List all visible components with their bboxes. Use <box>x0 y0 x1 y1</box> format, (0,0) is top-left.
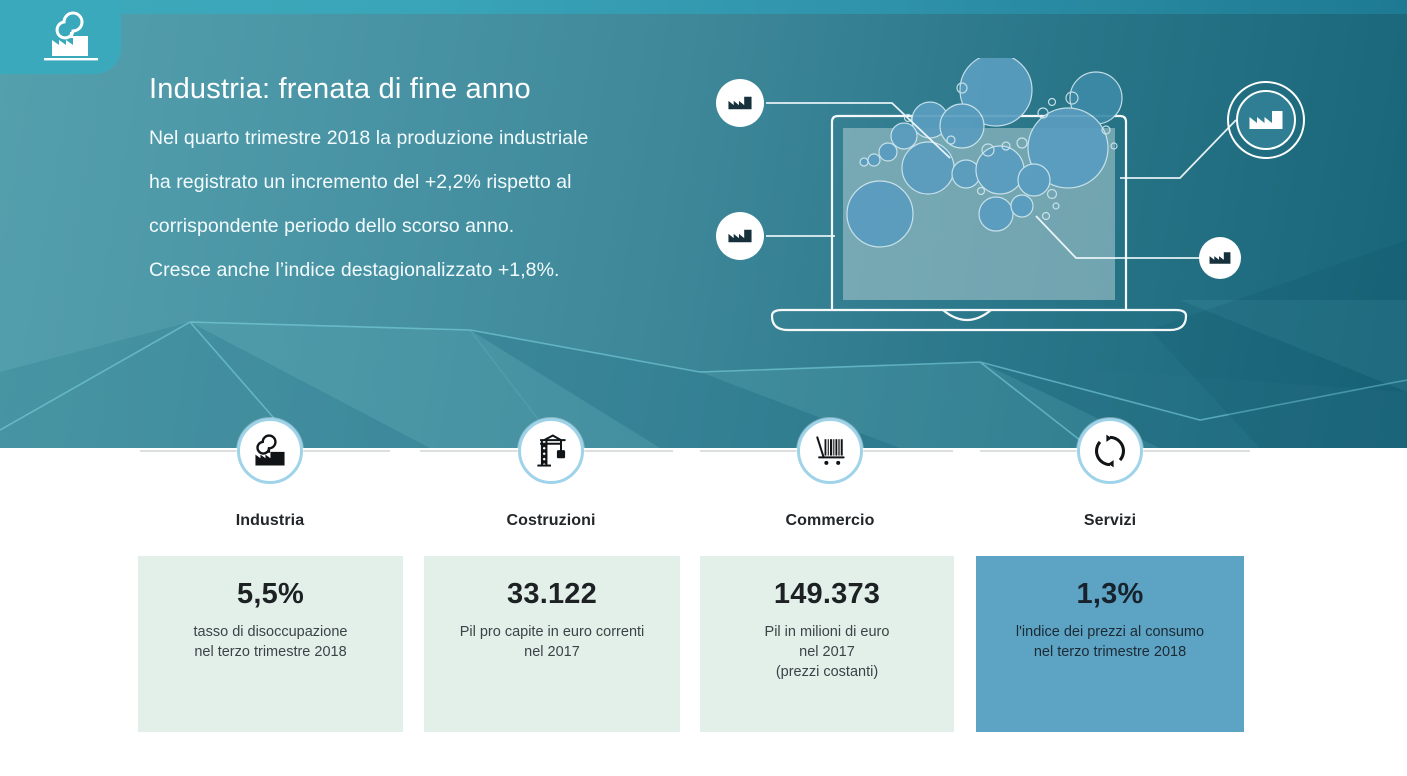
laptop-bubble-chart-illustration <box>700 58 1320 350</box>
barcode-cart-icon <box>810 431 850 471</box>
category-icon-circle <box>237 418 303 484</box>
stat-card-gdp-millions[interactable]: 149.373 Pil in milioni di euronel 2017(p… <box>700 556 954 732</box>
stat-description: Pil in milioni di euronel 2017(prezzi co… <box>765 622 890 682</box>
stat-value: 33.122 <box>507 576 597 612</box>
header-banner: Industria: frenata di fine anno Nel quar… <box>0 0 1407 448</box>
category-icon-circle <box>797 418 863 484</box>
circular-arrows-icon <box>1090 431 1130 471</box>
category-label: Commercio <box>740 512 920 530</box>
stat-description: l'indice dei prezzi al consumonel terzo … <box>1016 622 1204 662</box>
factory-smoke-icon <box>40 6 102 66</box>
category-icon-circle <box>518 418 584 484</box>
infographic-page: Industria: frenata di fine anno Nel quar… <box>0 0 1407 776</box>
category-costruzioni[interactable]: Costruzioni <box>461 418 641 530</box>
category-label: Servizi <box>1020 512 1200 530</box>
stat-value: 149.373 <box>774 576 880 612</box>
factory-badge-top-right <box>1228 82 1304 158</box>
category-label: Costruzioni <box>461 512 641 530</box>
stat-card-consumer-prices[interactable]: 1,3% l'indice dei prezzi al consumonel t… <box>976 556 1244 732</box>
category-label: Industria <box>180 512 360 530</box>
factory-smoke-icon <box>250 431 290 471</box>
headline-line-3: corrispondente periodo dello scorso anno… <box>149 204 749 248</box>
headline-line-4: Cresce anche l’indice destagionalizzato … <box>149 248 749 292</box>
factory-badge-bottom-right <box>1199 237 1241 279</box>
headline-line-2: ha registrato un incremento del +2,2% ri… <box>149 160 749 204</box>
stat-card-gdp-per-capita[interactable]: 33.122 Pil pro capite in euro correntine… <box>424 556 680 732</box>
category-commercio[interactable]: Commercio <box>740 418 920 530</box>
stat-description: Pil pro capite in euro correntinel 2017 <box>460 622 645 662</box>
headline-line-1: Nel quarto trimestre 2018 la produzione … <box>149 116 749 160</box>
category-industria[interactable]: Industria <box>180 418 360 530</box>
stat-value: 1,3% <box>1077 576 1144 612</box>
page-title: Industria: frenata di fine anno <box>149 70 749 108</box>
crane-icon <box>531 431 571 471</box>
stat-value: 5,5% <box>237 576 304 612</box>
category-servizi[interactable]: Servizi <box>1020 418 1200 530</box>
stat-cards-row: 5,5% tasso di disoccupazionenel terzo tr… <box>0 556 1407 732</box>
headline-block: Industria: frenata di fine anno Nel quar… <box>149 70 749 292</box>
category-icon-circle <box>1077 418 1143 484</box>
stat-description: tasso di disoccupazionenel terzo trimest… <box>194 622 348 662</box>
stat-card-unemployment[interactable]: 5,5% tasso di disoccupazionenel terzo tr… <box>138 556 403 732</box>
